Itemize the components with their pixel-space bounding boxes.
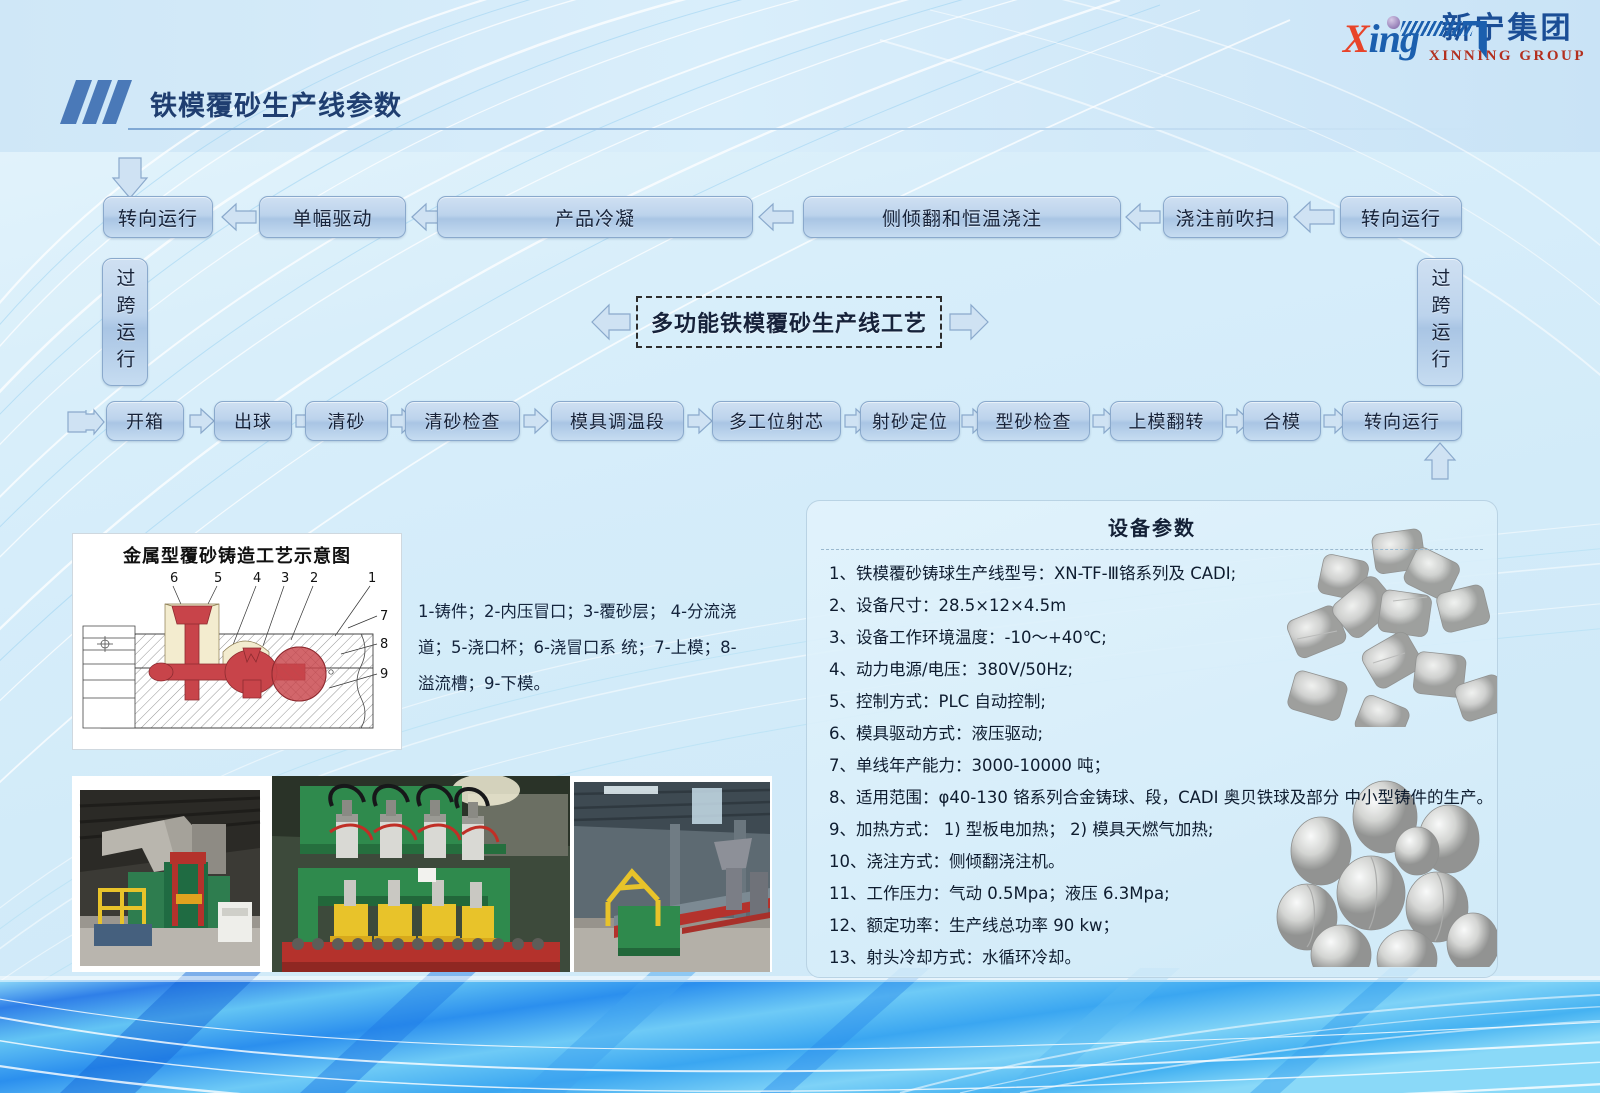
- parameters-title: 设备参数: [807, 501, 1497, 541]
- equipment-parameters-panel: 设备参数 1、铁模覆砂铸球生产线型号：XN-TF-Ⅲ铬系列及 CADI; 2、设…: [806, 500, 1498, 978]
- parameter-item: 2、设备尺寸：28.5×12×4.5m: [829, 590, 1497, 622]
- flow-arrow-left-t4: [1126, 204, 1160, 230]
- flow-arrow-right-b5: [688, 409, 712, 433]
- flow-node-top-3[interactable]: 产品冷凝: [437, 196, 753, 238]
- flow-arrow-left-center: [592, 305, 630, 339]
- svg-text:7: 7: [380, 609, 388, 624]
- flow-arrow-down-entry: [113, 158, 147, 198]
- flow-node-label: 清砂: [328, 408, 366, 434]
- svg-text:6: 6: [170, 571, 178, 586]
- parameter-item: 9、加热方式： 1) 型板电加热； 2) 模具天燃气加热;: [829, 814, 1497, 846]
- svg-text:3: 3: [281, 571, 289, 586]
- schematic-title: 金属型覆砂铸造工艺示意图: [73, 534, 401, 568]
- flow-node-label: 多工位射芯: [729, 408, 824, 434]
- parameter-item: 11、工作压力：气动 0.5Mpa；液压 6.3Mpa;: [829, 878, 1497, 910]
- flow-node-top-6[interactable]: 转向运行: [1340, 196, 1462, 238]
- flow-node-label: 出球: [234, 408, 272, 434]
- flow-node-label: 产品冷凝: [555, 204, 635, 231]
- flow-node-top-2[interactable]: 单幅驱动: [259, 196, 406, 238]
- flow-arrow-up-return: [1425, 443, 1455, 479]
- legend-line: 溢流槽；9-下模。: [418, 666, 748, 702]
- flow-node-label: 转向运行: [1364, 408, 1440, 434]
- parameter-item: 7、单线年产能力：3000-10000 吨；: [829, 750, 1497, 782]
- flow-node-top-4[interactable]: 侧倾翻和恒温浇注: [803, 196, 1121, 238]
- flow-node-label: 模具调温段: [570, 408, 665, 434]
- production-line-photo-strip: [72, 776, 772, 972]
- svg-text:8: 8: [380, 637, 388, 652]
- flow-node-label: 浇注前吹扫: [1175, 204, 1275, 231]
- flow-node-label: 合模: [1263, 408, 1301, 434]
- flow-node-label: 转向运行: [1361, 204, 1441, 231]
- parameter-item: 5、控制方式：PLC 自动控制;: [829, 686, 1497, 718]
- photo-conveyor-line: [574, 776, 770, 972]
- svg-text:5: 5: [214, 571, 222, 586]
- flow-node-bottom-11[interactable]: 转向运行: [1342, 401, 1462, 441]
- parameter-item: 8、适用范围：φ40-130 铬系列合金铸球、段，CADI 奥贝铁球及部分 中小…: [829, 782, 1497, 814]
- svg-text:9: 9: [380, 667, 388, 682]
- parameter-item: 3、设备工作环境温度：-10～+40℃;: [829, 622, 1497, 654]
- flow-node-label: 过跨运行: [1427, 268, 1454, 376]
- svg-text:2: 2: [310, 571, 318, 586]
- flow-node-right-crossover[interactable]: 过跨运行: [1417, 258, 1463, 386]
- parameter-item: 4、动力电源/电压：380V/50Hz;: [829, 654, 1497, 686]
- parameter-item: 6、模具驱动方式：液压驱动;: [829, 718, 1497, 750]
- flow-node-bottom-10[interactable]: 合模: [1243, 401, 1321, 441]
- flow-node-label: 转向运行: [118, 204, 198, 231]
- parameter-item: 10、浇注方式：侧倾翻浇注机。: [829, 846, 1497, 878]
- flow-node-label: 开箱: [126, 408, 164, 434]
- flow-node-bottom-8[interactable]: 型砂检查: [977, 401, 1090, 441]
- flow-node-top-5[interactable]: 浇注前吹扫: [1163, 196, 1288, 238]
- parameter-item: 12、额定功率：生产线总功率 90 kw；: [829, 910, 1497, 942]
- flow-arrow-left-t5: [1294, 202, 1334, 232]
- schematic-legend: 1-铸件；2-内压冒口；3-覆砂层； 4-分流浇 道；5-浇口杯；6-浇冒口系 …: [418, 594, 748, 702]
- flow-node-label: 上模翻转: [1129, 408, 1205, 434]
- legend-line: 道；5-浇口杯；6-浇冒口系 统；7-上模；8-: [418, 630, 748, 666]
- flow-node-bottom-1[interactable]: 开箱: [106, 401, 184, 441]
- flow-node-bottom-7[interactable]: 射砂定位: [860, 401, 960, 441]
- photo-shooting-head-press: [272, 776, 570, 972]
- flow-node-bottom-6[interactable]: 多工位射芯: [712, 401, 841, 441]
- parameters-divider: [821, 549, 1483, 550]
- process-flow-diagram: 转向运行 单幅驱动 产品冷凝 侧倾翻和恒温浇注 浇注前吹扫: [0, 0, 1600, 500]
- svg-text:4: 4: [253, 571, 261, 586]
- parameter-item: 13、射头冷却方式：水循环冷却。: [829, 942, 1497, 974]
- flow-node-bottom-9[interactable]: 上模翻转: [1110, 401, 1223, 441]
- flow-node-label: 型砂检查: [996, 408, 1072, 434]
- casting-schematic-card: 金属型覆砂铸造工艺示意图 6 5 4 3 2 1 7 8 9: [72, 533, 402, 750]
- flow-node-bottom-4[interactable]: 清砂检查: [405, 401, 520, 441]
- flow-arrow-right-entry: [68, 410, 104, 434]
- flow-node-label: 侧倾翻和恒温浇注: [882, 204, 1042, 231]
- parameter-item: 1、铁模覆砂铸球生产线型号：XN-TF-Ⅲ铬系列及 CADI;: [829, 558, 1497, 590]
- flow-node-label: 射砂定位: [872, 408, 948, 434]
- flow-arrow-right-b4: [524, 409, 548, 433]
- parameter-item: 14、模具：整线模具配置为 60 副。: [829, 974, 1497, 978]
- flow-node-bottom-3[interactable]: 清砂: [305, 401, 388, 441]
- flow-node-label: 单幅驱动: [292, 204, 372, 231]
- flow-node-left-crossover[interactable]: 过跨运行: [102, 258, 148, 386]
- flow-node-top-1[interactable]: 转向运行: [103, 196, 213, 238]
- flow-arrow-right-center: [950, 305, 988, 339]
- flow-center-title-box: 多功能铁模覆砂生产线工艺: [636, 296, 942, 348]
- photo-foundry-line-overview: [72, 776, 268, 972]
- flow-arrow-left-t3: [759, 204, 793, 230]
- legend-line: 1-铸件；2-内压冒口；3-覆砂层； 4-分流浇: [418, 594, 748, 630]
- flow-arrow-left-t1: [222, 204, 256, 230]
- flow-node-bottom-2[interactable]: 出球: [214, 401, 292, 441]
- flow-node-label: 过跨运行: [112, 268, 139, 376]
- casting-schematic-drawing: 6 5 4 3 2 1 7 8 9: [73, 568, 403, 748]
- flow-center-title-label: 多功能铁模覆砂生产线工艺: [651, 306, 927, 338]
- flow-arrow-right-b1: [190, 409, 214, 433]
- svg-text:1: 1: [368, 571, 376, 586]
- parameters-list: 1、铁模覆砂铸球生产线型号：XN-TF-Ⅲ铬系列及 CADI; 2、设备尺寸：2…: [829, 558, 1497, 978]
- flow-node-bottom-5[interactable]: 模具调温段: [551, 401, 684, 441]
- flow-node-label: 清砂检查: [425, 408, 501, 434]
